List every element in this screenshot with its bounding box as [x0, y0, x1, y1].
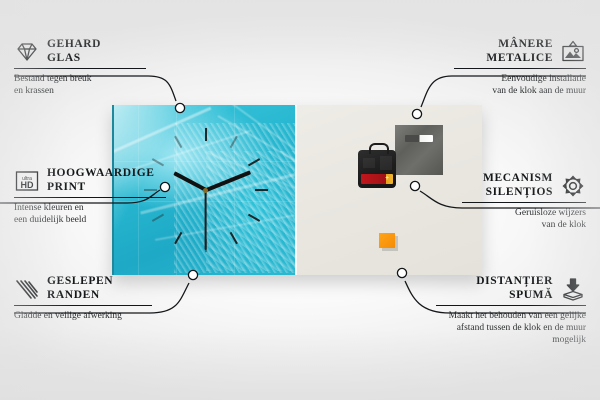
clock-tick: [151, 158, 163, 166]
callout-gehard-glas: GEHARD GLAS Bestand tegen breuk en krass…: [14, 38, 146, 97]
spacer-arrow-icon: [560, 277, 586, 301]
callout-geslepen-randen: GESLEPEN RANDEN Gladde en veilige afwerk…: [14, 275, 152, 322]
metal-hanger-plate: [395, 125, 443, 175]
callout-manere-metalice: MÂNERE METALICE Eenvoudige installatie v…: [454, 38, 586, 97]
clock-mechanism-box: +: [358, 150, 396, 188]
callout-subtitle: Geruisloze wijzers van de klok: [462, 207, 586, 231]
svg-text:HD: HD: [21, 180, 34, 190]
diamond-icon: [14, 40, 40, 64]
clock-tick: [255, 189, 268, 191]
callout-mecanism-silentios: MECANISM SILENȚIOS: [462, 172, 586, 231]
callout-header: MECANISM SILENȚIOS: [462, 172, 586, 199]
clock-center-cap: [203, 188, 208, 193]
callout-subtitle: Eenvoudige installatie van de klok aan d…: [454, 73, 586, 97]
clock-tick: [174, 136, 182, 148]
callout-rule: [14, 305, 152, 306]
clock-hour-hand: [173, 171, 207, 191]
callout-subtitle: Bestand tegen breuk en krassen: [14, 73, 146, 97]
callout-title: DISTANȚIER SPUMĂ: [476, 275, 553, 302]
beveled-lines-icon: [14, 277, 40, 301]
callout-rule: [14, 197, 166, 198]
callout-subtitle: Intense kleuren en een duidelijk beeld: [14, 202, 166, 226]
callout-distantier-spuma: DISTANȚIER SPUMĂ Maakt het behouden van …: [436, 275, 586, 346]
clock-minute-hand: [205, 170, 251, 191]
mechanism-detail: [363, 158, 375, 168]
clock-tick: [247, 214, 259, 222]
callout-rule: [436, 305, 586, 306]
callout-rule: [462, 202, 586, 203]
callout-header: ultra HD HOOGWAARDIGE PRINT: [14, 167, 166, 194]
callout-hoogwaardige-print: ultra HD HOOGWAARDIGE PRINT Intense kleu…: [14, 167, 166, 226]
picture-frame-icon: [560, 40, 586, 64]
clock-tick: [205, 128, 207, 141]
callout-title: MÂNERE METALICE: [486, 38, 553, 65]
clock-tick: [229, 232, 237, 244]
clock-tick: [229, 136, 237, 148]
foam-spacer-pad: [379, 233, 395, 248]
callout-header: GESLEPEN RANDEN: [14, 275, 152, 302]
mechanism-detail: [380, 156, 392, 170]
callout-rule: [454, 68, 586, 69]
callout-title: GEHARD GLAS: [47, 38, 101, 65]
callout-rule: [14, 68, 146, 69]
callout-title: GESLEPEN RANDEN: [47, 275, 113, 302]
clock-second-hand: [205, 190, 207, 250]
callout-header: DISTANȚIER SPUMĂ: [436, 275, 586, 302]
infographic-root: +: [0, 0, 600, 400]
clock-tick: [174, 232, 182, 244]
callout-title: HOOGWAARDIGE PRINT: [47, 167, 155, 194]
clock-tick: [247, 158, 259, 166]
ultra-hd-icon: ultra HD: [14, 169, 40, 193]
battery-plus-label: +: [384, 175, 390, 182]
product-image: +: [112, 105, 482, 275]
gear-icon: [560, 174, 586, 198]
hanger-slot: [405, 135, 433, 142]
clock-back-panel: +: [297, 105, 482, 275]
callout-subtitle: Maakt het behouden van een gelijke afsta…: [436, 310, 586, 346]
callout-title: MECANISM SILENȚIOS: [483, 172, 553, 199]
callout-header: GEHARD GLAS: [14, 38, 146, 65]
callout-header: MÂNERE METALICE: [454, 38, 586, 65]
mechanism-hanger-loop: [369, 143, 389, 154]
callout-subtitle: Gladde en veilige afwerking: [14, 310, 152, 322]
